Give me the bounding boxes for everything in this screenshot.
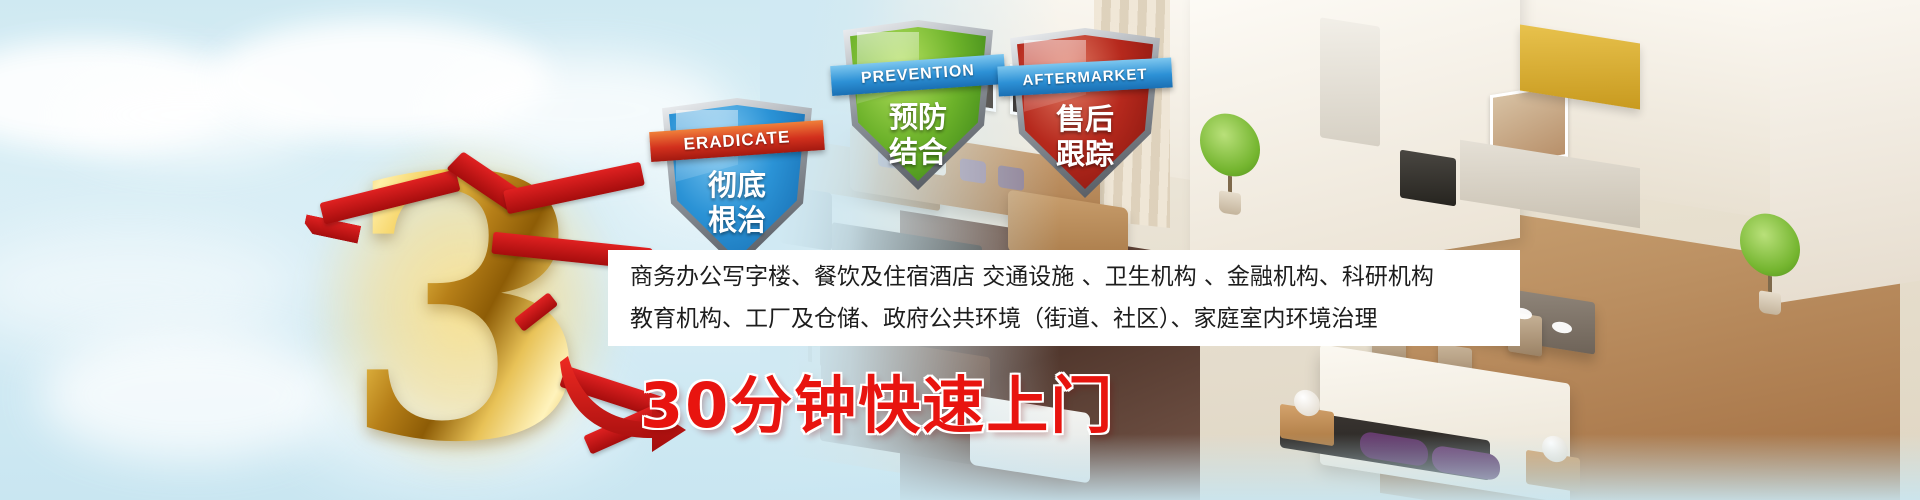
shield-cn-line2: 结合 [843,129,993,171]
service-scope-panel: 商务办公写字楼、餐饮及住宿酒店 交通设施 、卫生机构 、金融机构、科研机构 教育… [608,250,1520,346]
shield-cn-line2: 跟踪 [1010,131,1160,173]
shield-badge-prevention: PREVENTION 预防 结合 [843,20,993,190]
service-scope-line-2: 教育机构、工厂及仓储、政府公共环境（街道、社区）、家庭室内环境治理 [630,298,1498,340]
headline-text: 30分钟快速上门 [640,355,1114,445]
shield-badge-eradicate: ERADICATE 彻底 根治 [662,98,812,268]
promo-banner: 3 ERADICATE 彻底 根治 [0,0,1920,500]
shield-badge-aftermarket: AFTERMARKET 售后 跟踪 [1010,28,1160,198]
service-scope-line-1: 商务办公写字楼、餐饮及住宿酒店 交通设施 、卫生机构 、金融机构、科研机构 [630,256,1498,298]
shield-cn-line2: 根治 [662,197,812,239]
